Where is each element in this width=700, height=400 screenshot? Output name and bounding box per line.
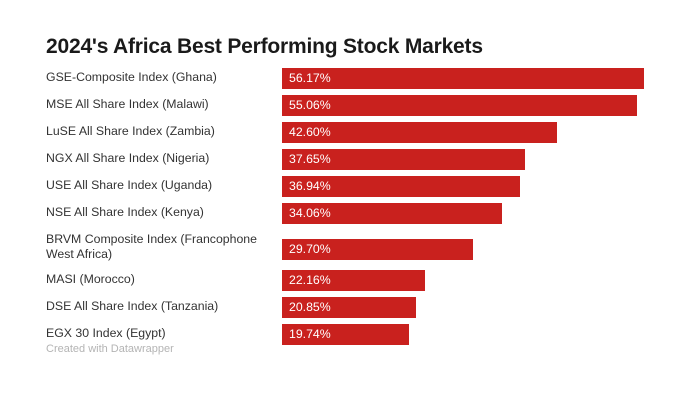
bar[interactable]: 42.60% bbox=[282, 122, 557, 143]
bar[interactable]: 34.06% bbox=[282, 203, 502, 224]
bar-row: LuSE All Share Index (Zambia)42.60% bbox=[46, 122, 658, 143]
bar-row: MSE All Share Index (Malawi)55.06% bbox=[46, 95, 658, 116]
bar-category-label: NGX All Share Index (Nigeria) bbox=[46, 149, 282, 166]
bar-value-label: 34.06% bbox=[282, 207, 331, 219]
bar-track: 55.06% bbox=[282, 95, 658, 116]
bar-track: 56.17% bbox=[282, 68, 658, 89]
bar[interactable]: 20.85% bbox=[282, 297, 416, 318]
bar-row: EGX 30 Index (Egypt)19.74% bbox=[46, 324, 658, 345]
bar[interactable]: 19.74% bbox=[282, 324, 409, 345]
bar-row: DSE All Share Index (Tanzania)20.85% bbox=[46, 297, 658, 318]
bar-value-label: 36.94% bbox=[282, 180, 331, 192]
chart-container: 2024's Africa Best Performing Stock Mark… bbox=[0, 0, 700, 400]
bar-row: BRVM Composite Index (Francophone West A… bbox=[46, 230, 658, 262]
bar-value-label: 22.16% bbox=[282, 274, 331, 286]
bar-category-label: BRVM Composite Index (Francophone West A… bbox=[46, 230, 282, 262]
chart-title: 2024's Africa Best Performing Stock Mark… bbox=[46, 35, 483, 59]
bar[interactable]: 37.65% bbox=[282, 149, 525, 170]
bar-category-label: NSE All Share Index (Kenya) bbox=[46, 203, 282, 220]
bar-track: 20.85% bbox=[282, 297, 658, 318]
bar-value-label: 19.74% bbox=[282, 328, 331, 340]
bar[interactable]: 36.94% bbox=[282, 176, 520, 197]
bar-track: 22.16% bbox=[282, 270, 658, 291]
bar-category-label: LuSE All Share Index (Zambia) bbox=[46, 122, 282, 139]
bar-track: 42.60% bbox=[282, 122, 658, 143]
bar-value-label: 20.85% bbox=[282, 301, 331, 313]
bar-row: MASI (Morocco)22.16% bbox=[46, 270, 658, 291]
bar-track: 37.65% bbox=[282, 149, 658, 170]
bar-value-label: 42.60% bbox=[282, 126, 331, 138]
bar-category-label: USE All Share Index (Uganda) bbox=[46, 176, 282, 193]
chart-footer-attribution: Created with Datawrapper bbox=[46, 343, 174, 355]
bar-row: NSE All Share Index (Kenya)34.06% bbox=[46, 203, 658, 224]
bar-track: 36.94% bbox=[282, 176, 658, 197]
bar-category-label: MASI (Morocco) bbox=[46, 270, 282, 287]
bar[interactable]: 55.06% bbox=[282, 95, 637, 116]
bar-row: GSE-Composite Index (Ghana)56.17% bbox=[46, 68, 658, 89]
bar-chart-plot-area: GSE-Composite Index (Ghana)56.17%MSE All… bbox=[46, 68, 658, 351]
bar-track: 19.74% bbox=[282, 324, 658, 345]
bar[interactable]: 29.70% bbox=[282, 239, 473, 260]
bar-category-label: DSE All Share Index (Tanzania) bbox=[46, 297, 282, 314]
bar-value-label: 55.06% bbox=[282, 99, 331, 111]
bar-value-label: 37.65% bbox=[282, 153, 331, 165]
bar-category-label: MSE All Share Index (Malawi) bbox=[46, 95, 282, 112]
bar-value-label: 29.70% bbox=[282, 243, 331, 255]
bar-row: NGX All Share Index (Nigeria)37.65% bbox=[46, 149, 658, 170]
bar[interactable]: 22.16% bbox=[282, 270, 425, 291]
bar-category-label: EGX 30 Index (Egypt) bbox=[46, 324, 282, 341]
bar-track: 29.70% bbox=[282, 239, 658, 260]
bar-category-label: GSE-Composite Index (Ghana) bbox=[46, 68, 282, 85]
bar-value-label: 56.17% bbox=[282, 72, 331, 84]
bar-row: USE All Share Index (Uganda)36.94% bbox=[46, 176, 658, 197]
bar[interactable]: 56.17% bbox=[282, 68, 644, 89]
bar-track: 34.06% bbox=[282, 203, 658, 224]
